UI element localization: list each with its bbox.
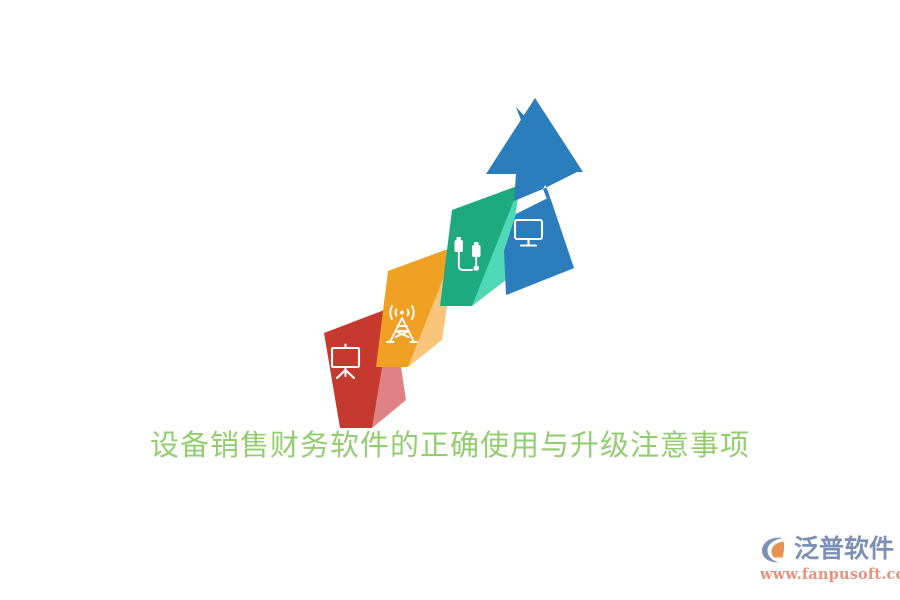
page-title: 设备销售财务软件的正确使用与升级注意事项 bbox=[0, 425, 900, 465]
brand-url: www.fanpusoft.com bbox=[760, 566, 892, 584]
arrow-segment-broadcast-tower bbox=[376, 246, 456, 367]
hero-graphic bbox=[300, 90, 620, 440]
brand-name: 泛普软件 bbox=[794, 534, 894, 564]
fanpu-logo-mark-icon bbox=[760, 534, 792, 564]
banner-canvas: 设备销售财务软件的正确使用与升级注意事项 泛普软件 www.fanpusoft.… bbox=[0, 0, 900, 600]
brand-logo[interactable]: 泛普软件 www.fanpusoft.com bbox=[760, 532, 892, 590]
brand-logo-row: 泛普软件 bbox=[760, 532, 892, 566]
arrow-head-blue bbox=[486, 98, 583, 201]
arrow-shaft-blue bbox=[506, 197, 574, 295]
